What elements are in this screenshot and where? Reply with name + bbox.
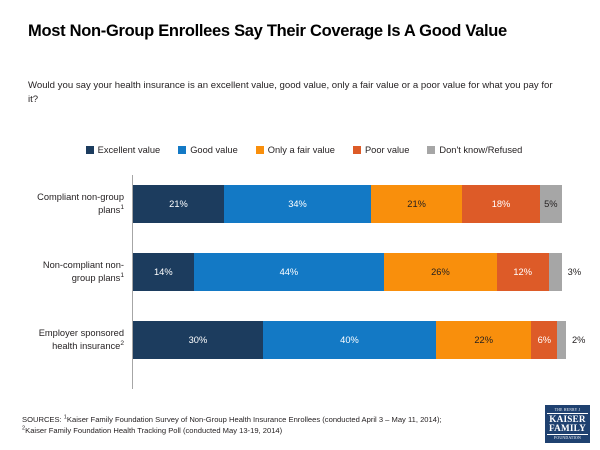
category-label-line-2: health insurance <box>52 341 120 351</box>
legend-item[interactable]: Good value <box>178 145 238 155</box>
legend-item-label: Poor value <box>365 145 409 155</box>
legend-item[interactable]: Don't know/Refused <box>427 145 522 155</box>
bar-segment-value-label: 30% <box>189 335 208 345</box>
bar-segment-value-label: 6% <box>538 335 551 345</box>
legend-swatch-icon <box>178 146 186 154</box>
chart-bar-row: Non-compliant non-group plans114%44%26%1… <box>0 248 600 296</box>
legend-item[interactable]: Only a fair value <box>256 145 335 155</box>
category-footnote-marker: 1 <box>120 272 124 279</box>
category-label: Compliant non-groupplans1 <box>6 180 124 228</box>
chart-plot-area: Compliant non-groupplans121%34%21%18%5%N… <box>0 175 600 393</box>
legend-item-label: Don't know/Refused <box>439 145 522 155</box>
sources-note-2: Kaiser Family Foundation Health Tracking… <box>25 426 282 435</box>
bar-segment-value-label: 40% <box>340 335 359 345</box>
stacked-bar: 21%34%21%18%5% <box>133 185 566 223</box>
legend-swatch-icon <box>353 146 361 154</box>
bar-segment[interactable] <box>549 253 562 291</box>
bar-segment-value-label-outside: 3% <box>568 253 581 291</box>
legend-item-label: Excellent value <box>98 145 161 155</box>
chart-bar-row: Compliant non-groupplans121%34%21%18%5% <box>0 180 600 228</box>
sources-prefix: SOURCES: <box>22 415 62 424</box>
bar-segment[interactable]: 34% <box>224 185 371 223</box>
bar-segment-value-label: 34% <box>288 199 307 209</box>
category-label-line-1: Employer sponsored <box>39 328 124 338</box>
bar-segment-value-label-outside: 2% <box>572 321 585 359</box>
bar-segment-value-label: 22% <box>474 335 493 345</box>
bar-segment-value-label: 26% <box>431 267 450 277</box>
bar-segment[interactable]: 21% <box>371 185 462 223</box>
stacked-bar: 30%40%22%6% <box>133 321 566 359</box>
bar-segment[interactable]: 22% <box>436 321 531 359</box>
stacked-bar: 14%44%26%12% <box>133 253 566 291</box>
category-footnote-marker: 1 <box>120 204 124 211</box>
bar-segment-value-label: 21% <box>169 199 188 209</box>
category-label-line-1: Non-compliant non- <box>43 260 124 270</box>
category-label: Non-compliant non-group plans1 <box>6 248 124 296</box>
bar-segment-value-label: 5% <box>544 199 557 209</box>
legend-swatch-icon <box>86 146 94 154</box>
legend-item-label: Only a fair value <box>268 145 335 155</box>
bar-segment-value-label: 18% <box>492 199 511 209</box>
bar-segment[interactable]: 44% <box>194 253 385 291</box>
bar-segment[interactable]: 14% <box>133 253 194 291</box>
bar-segment[interactable]: 18% <box>462 185 540 223</box>
category-label: Employer sponsoredhealth insurance2 <box>6 316 124 364</box>
legend-item[interactable]: Excellent value <box>86 145 161 155</box>
bar-segment[interactable]: 30% <box>133 321 263 359</box>
bar-segment-value-label: 21% <box>407 199 426 209</box>
logo-foundation-text: FOUNDATION <box>547 434 588 440</box>
bar-segment[interactable]: 5% <box>540 185 562 223</box>
logo-family-text: FAMILY <box>549 424 586 433</box>
bar-segment-value-label: 12% <box>513 267 532 277</box>
legend-swatch-icon <box>427 146 435 154</box>
page-title: Most Non-Group Enrollees Say Their Cover… <box>28 22 580 42</box>
legend-swatch-icon <box>256 146 264 154</box>
category-label-line-2: group plans <box>72 273 121 283</box>
sources-note: SOURCES: 1Kaiser Family Foundation Surve… <box>22 414 482 437</box>
bar-segment[interactable] <box>557 321 566 359</box>
chart-question-subtitle: Would you say your health insurance is a… <box>28 79 564 107</box>
bar-segment[interactable]: 6% <box>531 321 557 359</box>
chart-bar-row: Employer sponsoredhealth insurance230%40… <box>0 316 600 364</box>
bar-segment[interactable]: 21% <box>133 185 224 223</box>
sources-note-1: Kaiser Family Foundation Survey of Non-G… <box>67 415 442 424</box>
bar-segment[interactable]: 40% <box>263 321 436 359</box>
legend-item-label: Good value <box>190 145 238 155</box>
category-label-line-2: plans <box>98 205 120 215</box>
category-footnote-marker: 2 <box>120 340 124 347</box>
bar-segment[interactable]: 12% <box>497 253 549 291</box>
kaiser-family-foundation-logo: THE HENRY J KAISER FAMILY FOUNDATION <box>545 405 590 443</box>
bar-segment[interactable]: 26% <box>384 253 497 291</box>
category-label-line-1: Compliant non-group <box>37 192 124 202</box>
logo-top-text: THE HENRY J <box>547 408 588 414</box>
bar-segment-value-label: 14% <box>154 267 173 277</box>
bar-segment-value-label: 44% <box>280 267 299 277</box>
chart-legend: Excellent valueGood valueOnly a fair val… <box>28 145 580 155</box>
legend-item[interactable]: Poor value <box>353 145 409 155</box>
